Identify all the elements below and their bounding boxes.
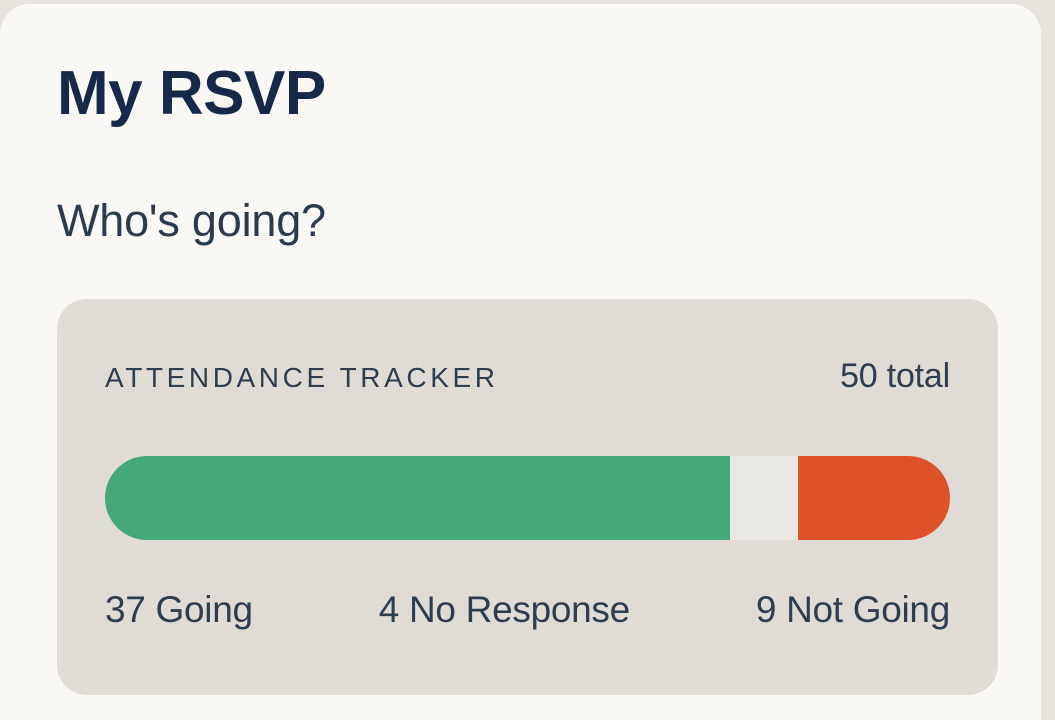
progress-segment-no-response <box>730 456 798 540</box>
tracker-total-count: 50 total <box>840 357 950 396</box>
legend-item-going: 37 Going <box>105 589 253 631</box>
attendance-legend: 37 Going 4 No Response 9 Not Going <box>105 589 950 631</box>
progress-segment-going <box>105 456 730 540</box>
app-panel: My RSVP Who's going? ATTENDANCE TRACKER … <box>0 4 1041 720</box>
screen: My RSVP Who's going? ATTENDANCE TRACKER … <box>0 0 1055 720</box>
tracker-header: ATTENDANCE TRACKER 50 total <box>105 357 950 399</box>
progress-segment-not-going <box>798 456 950 540</box>
attendance-tracker-card: ATTENDANCE TRACKER 50 total 37 Going 4 N… <box>57 299 998 695</box>
legend-item-not-going: 9 Not Going <box>756 589 950 631</box>
section-heading: Who's going? <box>57 196 326 246</box>
page-title: My RSVP <box>57 61 326 126</box>
attendance-progress-bar <box>105 456 950 540</box>
tracker-label: ATTENDANCE TRACKER <box>105 362 499 394</box>
legend-item-no-response: 4 No Response <box>379 589 630 631</box>
